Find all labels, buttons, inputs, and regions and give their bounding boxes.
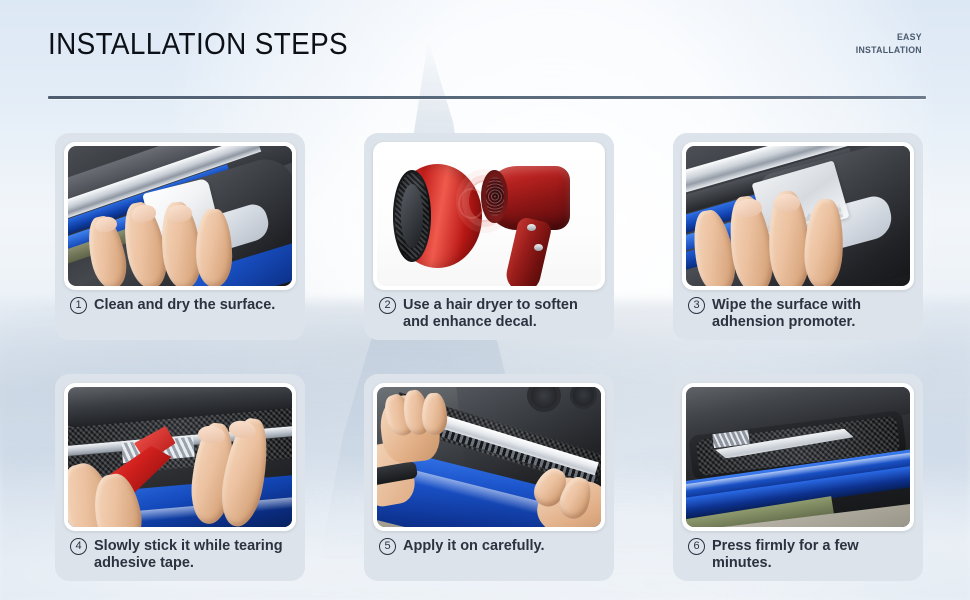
step-caption-4: 4 Slowly stick it while tearing adhesive… [64,531,296,581]
step-card-2: 2 Use a hair dryer to soften and enhance… [364,133,614,340]
step-text-3: Wipe the surface with adhension promoter… [712,297,910,331]
step-card-4: 4 Slowly stick it while tearing adhesive… [55,374,305,581]
step-number-6: 6 [688,538,705,555]
step-photo-2 [377,146,601,286]
installation-steps-page: INSTALLATION STEPS EASY INSTALLATION [0,0,970,600]
step-text-6: Press firmly for a few minutes. [712,538,910,572]
step-photo-frame-4 [64,383,296,531]
step-card-6: 6 Press firmly for a few minutes. [673,374,923,581]
step-text-4: Slowly stick it while tearing adhesive t… [94,538,292,572]
step-caption-6: 6 Press firmly for a few minutes. [682,531,914,581]
step-photo-5 [377,387,601,527]
step-caption-2: 2 Use a hair dryer to soften and enhance… [373,290,605,340]
step-photo-1 [68,146,292,286]
step-text-1: Clean and dry the surface. [94,297,292,314]
step-photo-frame-5 [373,383,605,531]
header-divider [48,96,926,99]
step-number-1: 1 [70,297,87,314]
step-card-1: 1 Clean and dry the surface. [55,133,305,340]
step-number-4: 4 [70,538,87,555]
step-caption-5: 5 Apply it on carefully. [373,531,605,564]
step-photo-frame-3 [682,142,914,290]
step-photo-3 [686,146,910,286]
page-title: INSTALLATION STEPS [48,24,348,64]
easy-installation-tag-line1: EASY [856,31,922,44]
steps-grid: 1 Clean and dry the surface. [55,133,923,581]
easy-installation-tag: EASY INSTALLATION [856,31,922,57]
step-caption-3: 3 Wipe the surface with adhension promot… [682,290,914,340]
step-card-5: 5 Apply it on carefully. [364,374,614,581]
header: INSTALLATION STEPS EASY INSTALLATION [0,0,970,110]
step-photo-frame-6 [682,383,914,531]
step-number-3: 3 [688,297,705,314]
step-photo-frame-1 [64,142,296,290]
step-photo-frame-2 [373,142,605,290]
step-caption-1: 1 Clean and dry the surface. [64,290,296,323]
step-text-2: Use a hair dryer to soften and enhance d… [403,297,601,331]
step-card-3: 3 Wipe the surface with adhension promot… [673,133,923,340]
step-photo-6 [686,387,910,527]
step-number-5: 5 [379,538,396,555]
step-text-5: Apply it on carefully. [403,538,601,555]
step-photo-4 [68,387,292,527]
step-number-2: 2 [379,297,396,314]
easy-installation-tag-line2: INSTALLATION [856,44,922,57]
